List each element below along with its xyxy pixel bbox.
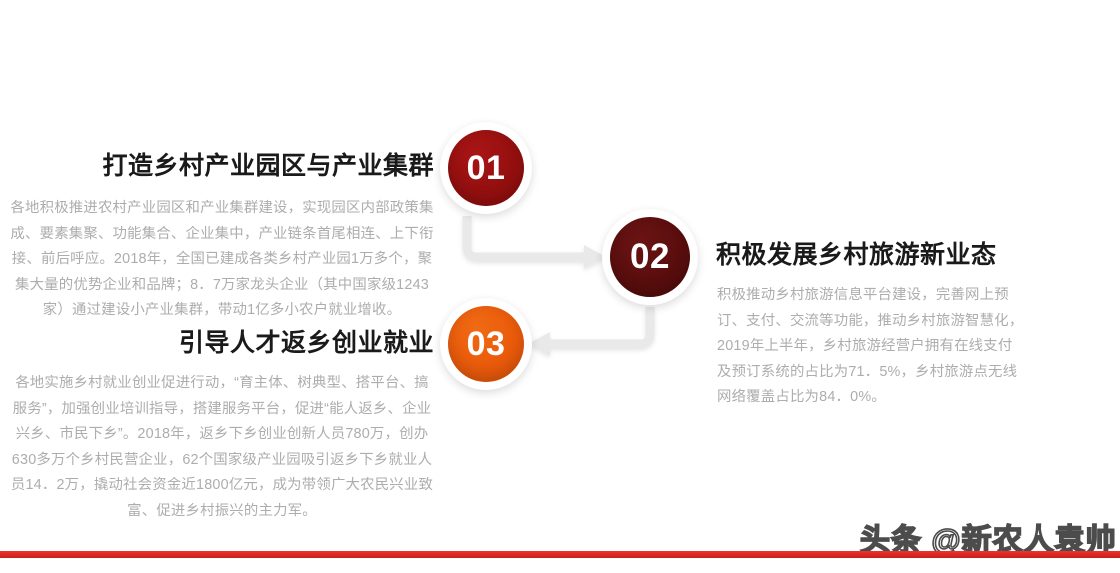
connector-01-to-02 xyxy=(467,216,606,269)
step-badge-02[interactable]: 02 xyxy=(602,209,698,305)
bottom-accent-bar xyxy=(0,551,1120,558)
step-badge-01-number: 01 xyxy=(448,130,524,206)
step-badge-03[interactable]: 03 xyxy=(440,298,532,390)
step-badge-03-number: 03 xyxy=(448,306,524,382)
slide-canvas: 01 02 03 打造乡村产业园区与产业集群 各地积极推进农村产业园区和产业集群… xyxy=(0,0,1120,573)
connector-arrows xyxy=(0,0,1120,573)
step-badge-02-number: 02 xyxy=(610,217,690,297)
connector-02-to-03 xyxy=(528,307,650,356)
step-badge-01[interactable]: 01 xyxy=(440,122,532,214)
